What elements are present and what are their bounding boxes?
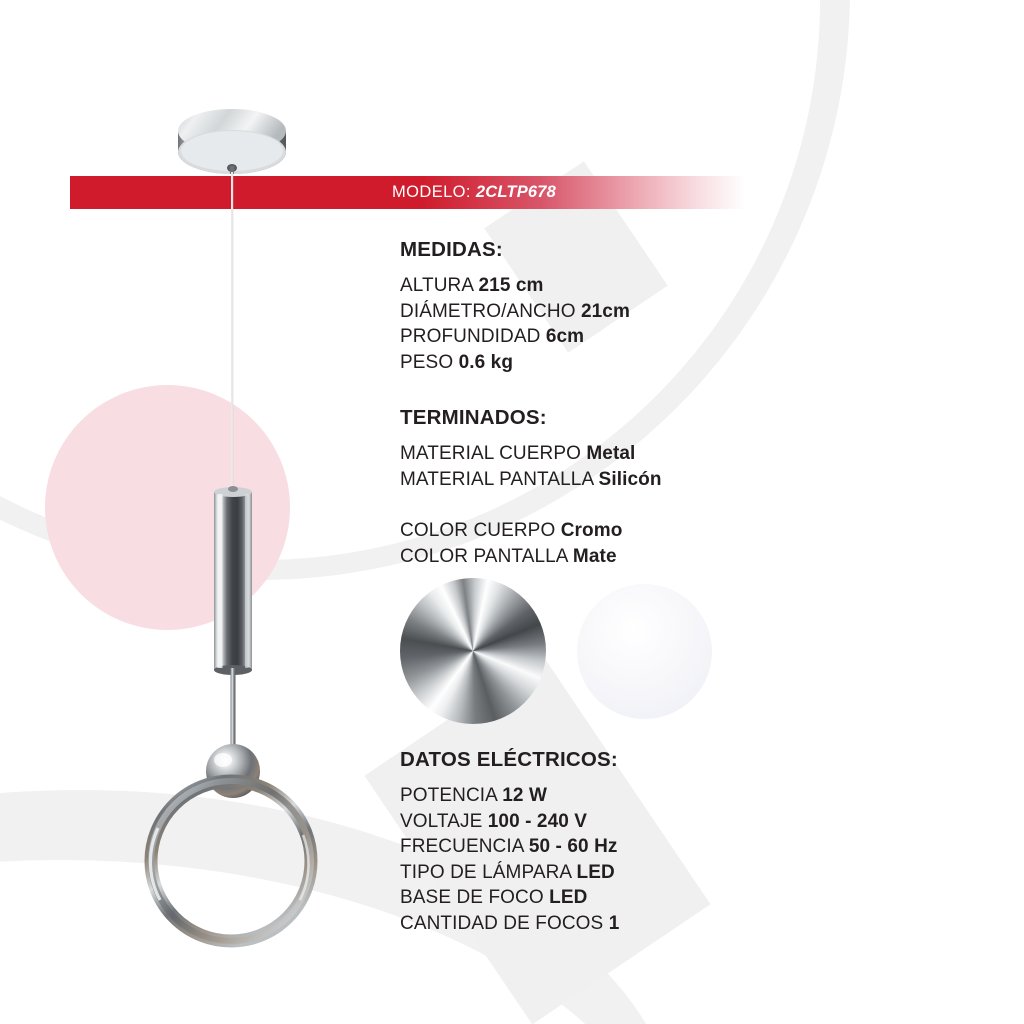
spec-row-peso: PESO 0.6 kg — [400, 350, 800, 376]
spec-value: LED — [577, 862, 615, 883]
spec-label: ALTURA — [400, 275, 478, 296]
product-spec-sheet: MODELO: 2CLTP678 — [0, 0, 1024, 1024]
spec-value: 0.6 kg — [459, 352, 513, 373]
spec-label: COLOR CUERPO — [400, 520, 561, 541]
spec-row-color-cuerpo: COLOR CUERPO Cromo — [400, 518, 800, 544]
spec-value: Metal — [586, 443, 635, 464]
specifications-column: MEDIDAS: ALTURA 215 cm DIÁMETRO/ANCHO 21… — [400, 238, 800, 569]
spec-row-material-pantalla: MATERIAL PANTALLA Silicón — [400, 467, 800, 493]
spec-label: VOLTAJE — [400, 811, 488, 832]
spec-row-potencia: POTENCIA 12 W — [400, 783, 800, 809]
spec-value: 12 W — [502, 785, 547, 806]
spec-row-frecuencia: FRECUENCIA 50 - 60 Hz — [400, 834, 800, 860]
spec-value: 50 - 60 Hz — [529, 836, 618, 857]
spec-value: 100 - 240 V — [488, 811, 587, 832]
spec-label: BASE DE FOCO — [400, 887, 549, 908]
spec-value: 1 — [609, 913, 620, 934]
spec-row-altura: ALTURA 215 cm — [400, 273, 800, 299]
sphere-highlight — [214, 753, 232, 767]
spec-value: 6cm — [546, 326, 584, 347]
terminados-heading: TERMINADOS: — [400, 406, 800, 430]
spec-value: Silicón — [599, 469, 662, 490]
chrome-cylinder — [214, 486, 252, 675]
chrome-swatch — [400, 578, 546, 724]
spec-row-color-pantalla: COLOR PANTALLA Mate — [400, 544, 800, 570]
section-terminados: TERMINADOS: MATERIAL CUERPO Metal MATERI… — [400, 406, 800, 569]
ceiling-canopy — [178, 109, 286, 174]
electricos-heading: DATOS ELÉCTRICOS: — [400, 748, 800, 772]
spec-value: Cromo — [561, 520, 623, 541]
spec-label: COLOR PANTALLA — [400, 546, 573, 567]
spec-label: DIÁMETRO/ANCHO — [400, 301, 581, 322]
spec-label: PESO — [400, 352, 459, 373]
model-value: 2CLTP678 — [476, 183, 556, 201]
chrome-ring — [150, 781, 311, 941]
spec-label: PROFUNDIDAD — [400, 326, 546, 347]
spec-value: 21cm — [581, 301, 630, 322]
spec-label: FRECUENCIA — [400, 836, 529, 857]
spec-label: POTENCIA — [400, 785, 502, 806]
spec-row-base-foco: BASE DE FOCO LED — [400, 885, 800, 911]
spec-row-diametro: DIÁMETRO/ANCHO 21cm — [400, 299, 800, 325]
section-datos-electricos: DATOS ELÉCTRICOS: POTENCIA 12 W VOLTAJE … — [400, 748, 800, 936]
spec-value: Mate — [573, 546, 617, 567]
spec-row-material-cuerpo: MATERIAL CUERPO Metal — [400, 441, 800, 467]
model-text: MODELO: 2CLTP678 — [392, 183, 556, 202]
suspension-cable — [231, 172, 233, 494]
spec-row-voltaje: VOLTAJE 100 - 240 V — [400, 809, 800, 835]
connector-rod — [231, 668, 236, 754]
spec-label: MATERIAL CUERPO — [400, 443, 586, 464]
medidas-heading: MEDIDAS: — [400, 238, 800, 262]
spec-value: 215 cm — [478, 275, 543, 296]
section-medidas: MEDIDAS: ALTURA 215 cm DIÁMETRO/ANCHO 21… — [400, 238, 800, 375]
spec-row-profundidad: PROFUNDIDAD 6cm — [400, 324, 800, 350]
spec-label: TIPO DE LÁMPARA — [400, 862, 577, 883]
spec-row-tipo-lampara: TIPO DE LÁMPARA LED — [400, 860, 800, 886]
pendant-lamp-illustration — [0, 0, 400, 1024]
spec-value: LED — [549, 887, 587, 908]
model-label: MODELO: — [392, 183, 476, 201]
spec-row-cantidad-focos: CANTIDAD DE FOCOS 1 — [400, 911, 800, 937]
spec-label: MATERIAL PANTALLA — [400, 469, 599, 490]
matte-swatch — [577, 584, 712, 719]
spec-label: CANTIDAD DE FOCOS — [400, 913, 609, 934]
